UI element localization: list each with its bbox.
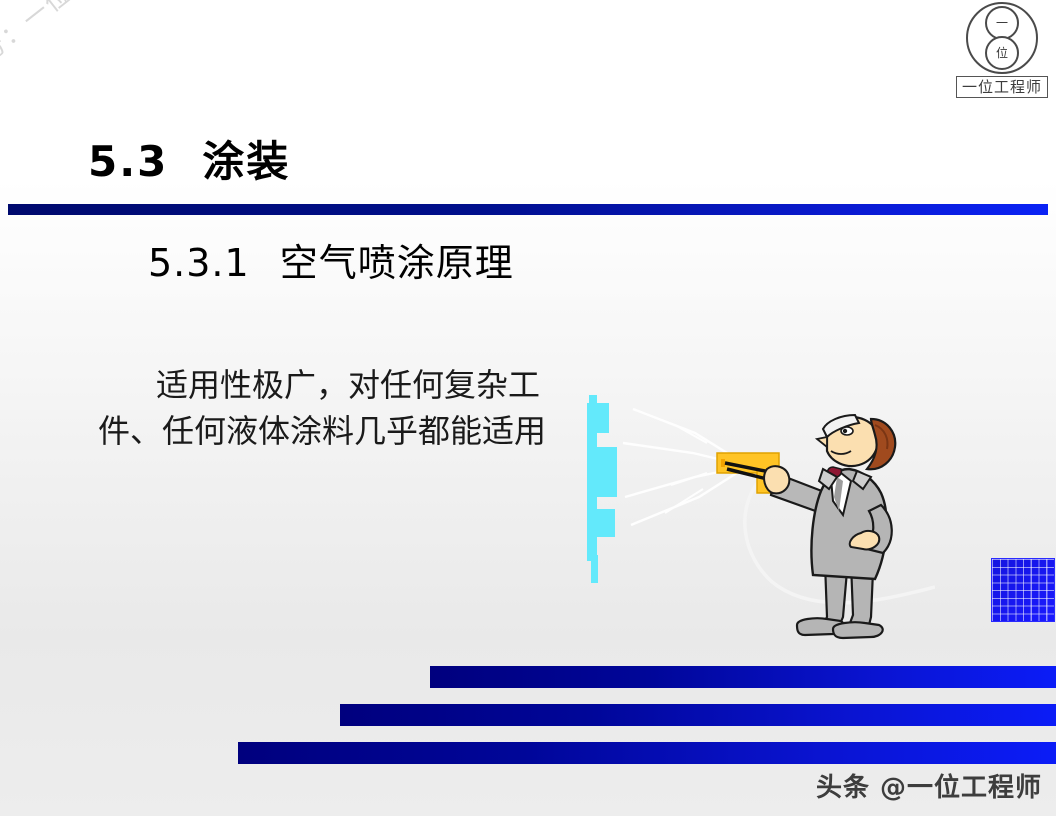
painter-figure-icon <box>575 385 935 640</box>
footer-credit: 头条 @一位工程师 <box>816 767 1042 804</box>
title-divider-rule <box>8 204 1048 215</box>
title-number: 5.3 <box>88 137 168 186</box>
spray-painting-illustration <box>575 385 935 640</box>
decor-bar-3 <box>238 742 1056 764</box>
subtitle-text: 空气喷涂原理 <box>280 241 514 285</box>
blue-grid-block <box>991 558 1055 622</box>
nose <box>817 437 827 447</box>
body-paragraph: 适用性极广，对任何复杂工件、任何液体涂料几乎都能适用 <box>98 362 568 454</box>
decor-bar-1 <box>430 666 1056 688</box>
decor-bar-2 <box>340 704 1056 726</box>
title-text: 涂装 <box>202 137 290 186</box>
logo-circle-mark: 一 つ 位 <box>966 2 1038 74</box>
right-shoe <box>833 622 883 638</box>
gun-hand <box>764 466 789 493</box>
page-subtitle: 5.3.1空气喷涂原理 <box>148 232 514 287</box>
slide-canvas: 头条号：一位工程师 一 つ 位 一位工程师 5.3涂装 5.3.1空气喷涂原理 … <box>0 0 1056 816</box>
brand-logo: 一 つ 位 一位工程师 <box>956 2 1048 98</box>
logo-bottom-circle: 位 <box>985 36 1019 70</box>
logo-name-label: 一位工程师 <box>956 76 1048 98</box>
subtitle-number: 5.3.1 <box>148 241 250 285</box>
page-title: 5.3涂装 <box>88 128 290 189</box>
